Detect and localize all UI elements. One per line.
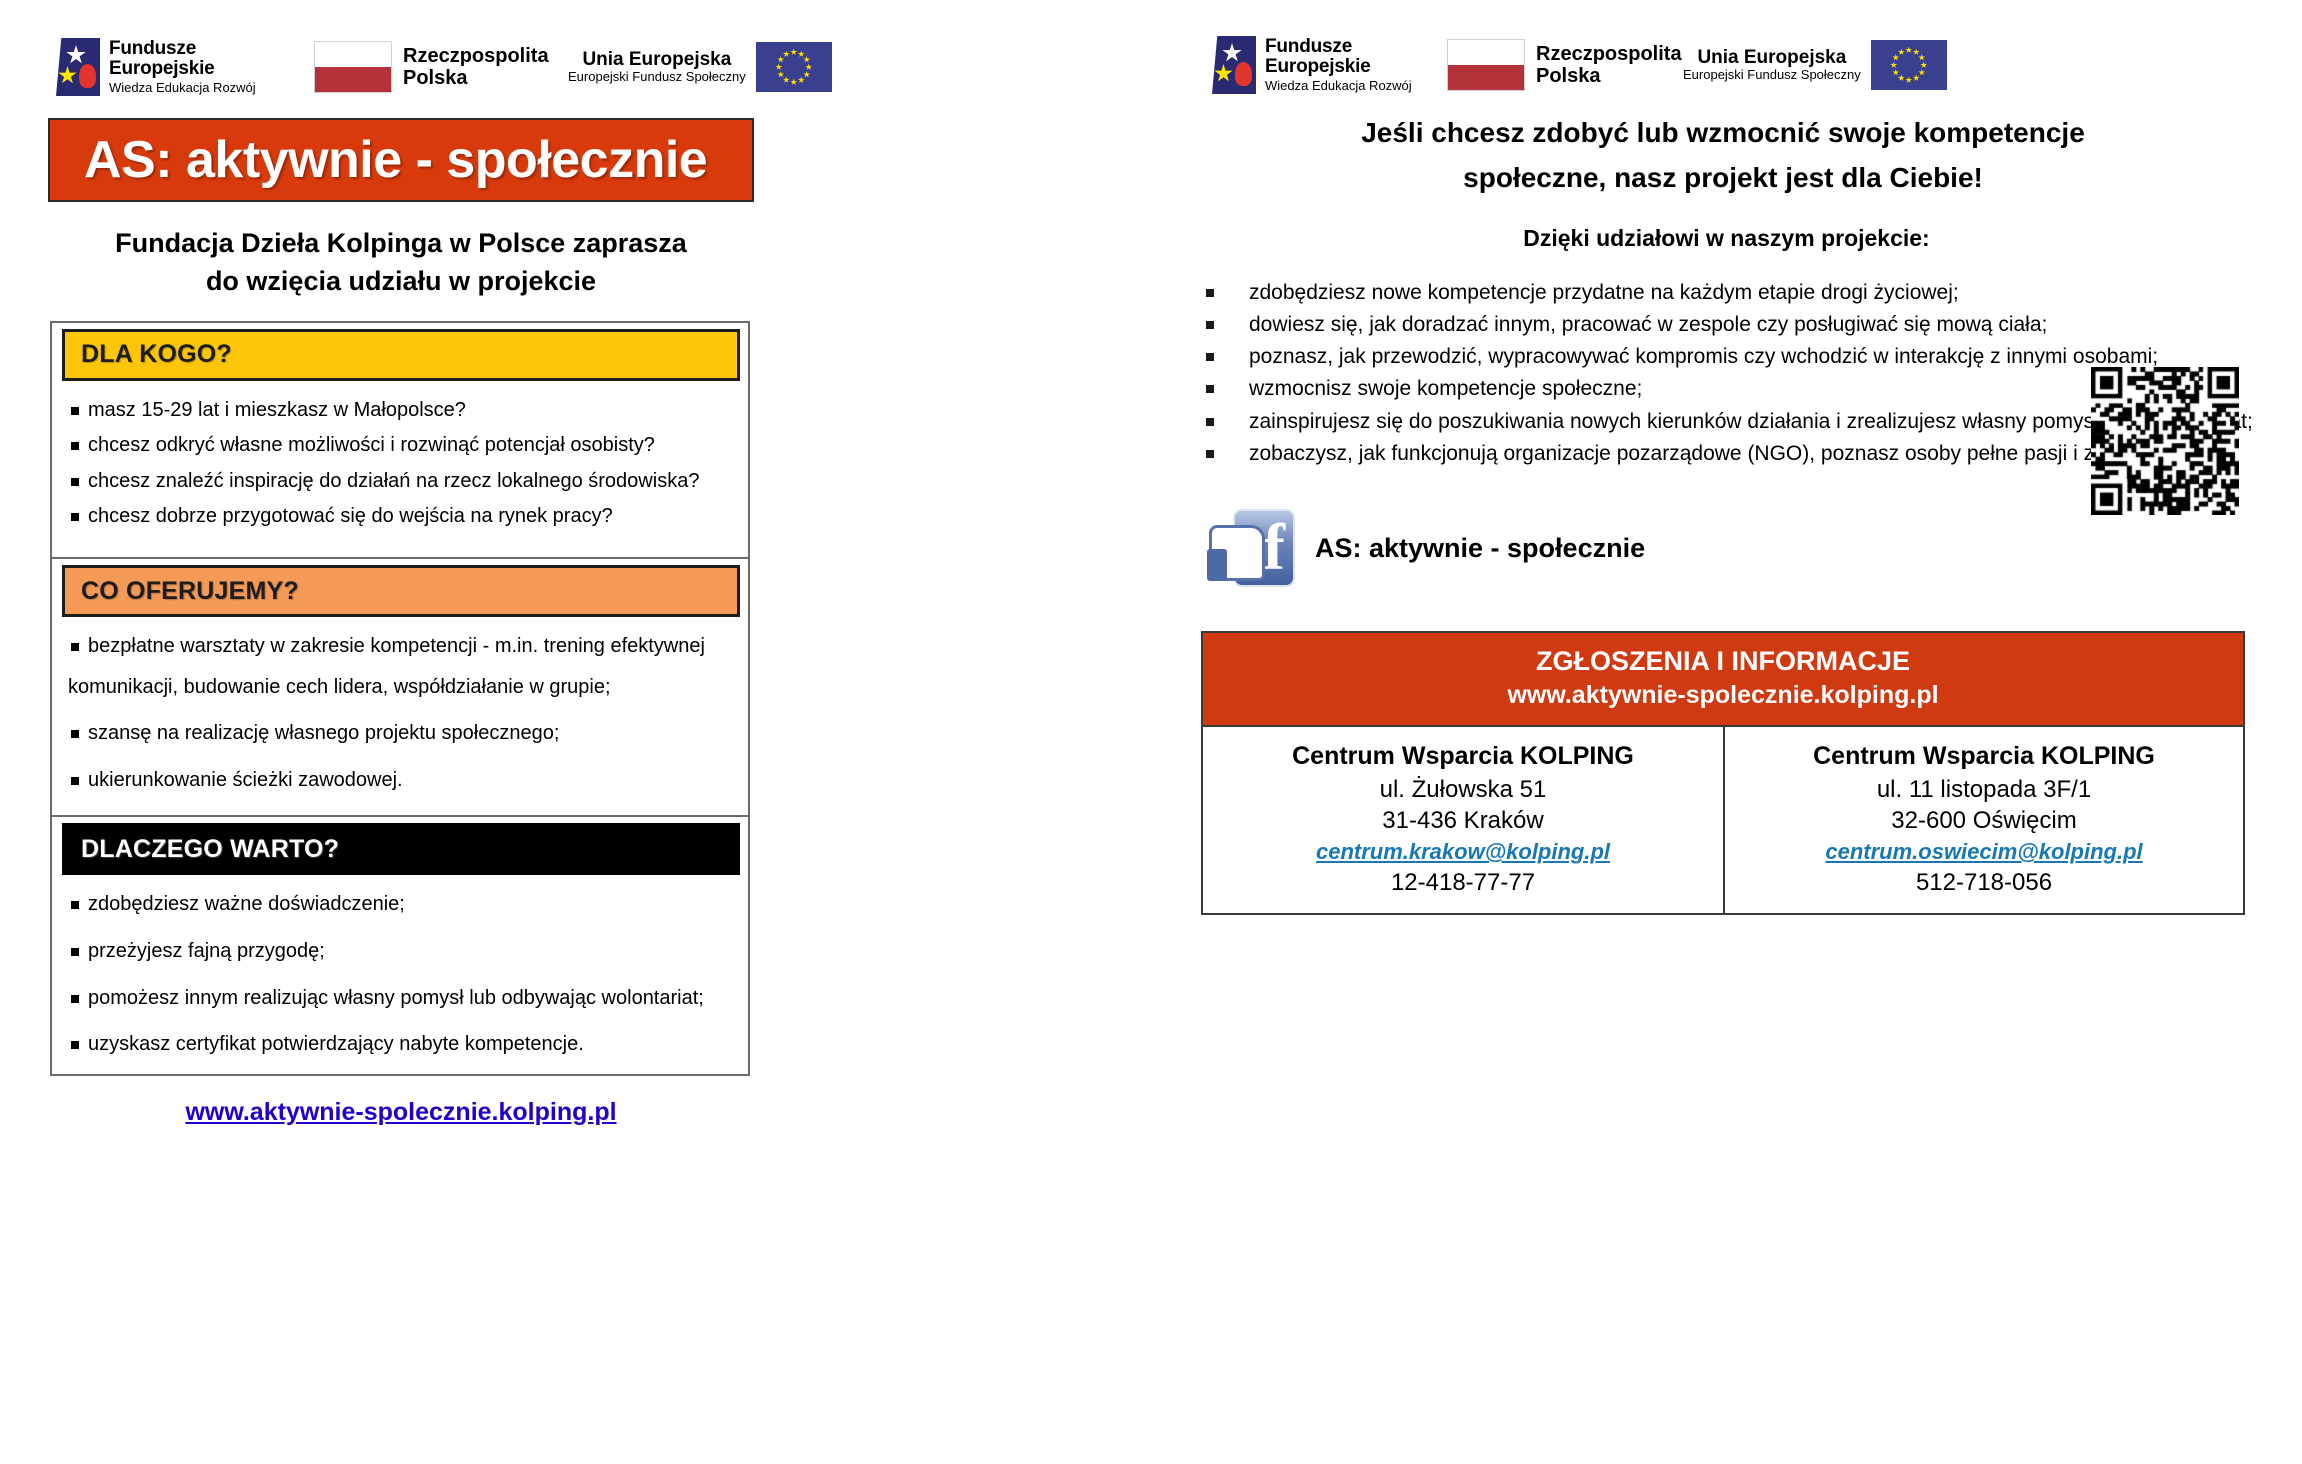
bullet-item: szansę na realizację własnego projektu s…	[68, 720, 736, 747]
square-bullet-icon	[71, 1041, 79, 1049]
contact-box: ZGŁOSZENIA I INFORMACJE www.aktywnie-spo…	[1201, 631, 2245, 915]
bullet-text: chcesz odkryć własne możliwości i rozwin…	[88, 434, 655, 456]
rp-line2: Polska	[403, 67, 549, 89]
unia-europejska-logo: Unia Europejska Europejski Fundusz Społe…	[1683, 40, 1947, 90]
fe-line3: Wiedza Edukacja Rozwój	[1265, 79, 1412, 93]
invitation-line-2: do wzięcia udziału w projekcie	[48, 262, 754, 300]
ue-line2: Europejski Fundusz Społeczny	[1683, 68, 1861, 83]
bullet-text: uzyskasz certyfikat potwierdzający nabyt…	[88, 1033, 584, 1055]
right-headline: Jeśli chcesz zdobyć lub wzmocnić swoje k…	[1199, 110, 2247, 201]
bullet-text: szansę na realizację własnego projektu s…	[88, 722, 559, 744]
bullet-item: chcesz odkryć własne możliwości i rozwin…	[68, 432, 736, 459]
fe-line2: Europejskie	[109, 59, 256, 79]
square-bullet-icon	[71, 513, 79, 521]
bullet-text: pomożesz innym realizując własny pomysł …	[88, 987, 704, 1009]
square-bullet-icon	[71, 777, 79, 785]
left-page: Fundusze Europejskie Wiedza Edukacja Roz…	[0, 0, 1151, 1464]
ue-line1: Unia Europejska	[1683, 47, 1861, 68]
square-bullet-icon	[71, 995, 79, 1003]
section-title-dla-kogo: DLA KOGO?	[65, 340, 232, 369]
contact-cell-oswiecim: Centrum Wsparcia KOLPING ul. 11 listopad…	[1723, 727, 2243, 913]
poland-flag-icon	[314, 41, 392, 93]
bullet-item: pomożesz innym realizując własny pomysł …	[68, 985, 736, 1012]
invitation-text: Fundacja Dzieła Kolpinga w Polsce zapras…	[48, 224, 754, 301]
right-page: Fundusze Europejskie Wiedza Edukacja Roz…	[1151, 0, 2302, 1464]
bullet-item: masz 15-29 lat i mieszkasz w Małopolsce?	[68, 397, 736, 424]
center-name: Centrum Wsparcia KOLPING	[1209, 740, 1717, 773]
square-bullet-icon	[71, 730, 79, 738]
project-title-banner: AS: aktywnie - społecznie	[48, 118, 754, 202]
fundusze-europejskie-icon	[50, 38, 100, 96]
section-title-dlaczego-warto: DLACZEGO WARTO?	[65, 835, 339, 864]
contact-cell-krakow: Centrum Wsparcia KOLPING ul. Żułowska 51…	[1203, 727, 1723, 913]
bullet-item: bezpłatne warsztaty w zakresie kompetenc…	[68, 633, 736, 660]
square-bullet-icon	[1206, 450, 1214, 458]
fundusze-europejskie-icon	[1206, 36, 1256, 94]
ue-line2: Europejski Fundusz Społeczny	[568, 70, 746, 85]
bullet-continuation: komunikacji, budowanie cech lidera, wspó…	[68, 674, 736, 701]
benefit-text: poznasz, jak przewodzić, wypracowywać ko…	[1249, 345, 2158, 368]
bullet-text: chcesz dobrze przygotować się do wejścia…	[88, 505, 613, 527]
facebook-page-label: AS: aktywnie - społecznie	[1315, 533, 1645, 564]
section-header-dla-kogo: DLA KOGO?	[62, 329, 740, 381]
eu-flag-icon	[1871, 40, 1947, 90]
center-street: ul. Żułowska 51	[1209, 774, 1717, 806]
bullet-item: zdobędziesz ważne doświadczenie;	[68, 891, 736, 918]
bullet-text: przeżyjesz fajną przygodę;	[88, 940, 325, 962]
facebook-thumbs-up-icon[interactable]: f	[1209, 509, 1295, 587]
section-header-dlaczego-warto: DLACZEGO WARTO?	[62, 823, 740, 875]
section-header-co-oferujemy: CO OFERUJEMY?	[62, 565, 740, 617]
contact-header-url[interactable]: www.aktywnie-spolecznie.kolping.pl	[1203, 679, 2243, 712]
benefits-subheading: Dzięki udziałowi w naszym projekcie:	[1151, 225, 2302, 252]
section-divider	[52, 815, 748, 817]
bullet-text: bezpłatne warsztaty w zakresie kompetenc…	[88, 635, 705, 657]
center-street: ul. 11 listopada 3F/1	[1731, 774, 2237, 806]
center-city: 32-600 Oświęcim	[1731, 805, 2237, 837]
center-name: Centrum Wsparcia KOLPING	[1731, 740, 2237, 773]
contact-cells: Centrum Wsparcia KOLPING ul. Żułowska 51…	[1203, 727, 2243, 913]
qr-code-icon[interactable]	[2091, 367, 2239, 515]
unia-europejska-logo: Unia Europejska Europejski Fundusz Społe…	[568, 42, 832, 92]
center-phone: 12-418-77-77	[1209, 867, 1717, 899]
contact-header-title: ZGŁOSZENIA I INFORMACJE	[1203, 645, 2243, 679]
square-bullet-icon	[71, 901, 79, 909]
bullet-item: ukierunkowanie ścieżki zawodowej.	[68, 767, 736, 794]
section-body-dlaczego-warto: zdobędziesz ważne doświadczenie; przeżyj…	[52, 875, 748, 1073]
benefit-text: zdobędziesz nowe kompetencje przydatne n…	[1249, 281, 1959, 304]
section-title-co-oferujemy: CO OFERUJEMY?	[65, 577, 299, 606]
center-email-link[interactable]: centrum.krakow@kolping.pl	[1209, 837, 1717, 867]
footer-url-container: www.aktywnie-spolecznie.kolping.pl	[48, 1098, 754, 1127]
section-divider	[52, 557, 748, 559]
rzeczpospolita-polska-logo: Rzeczpospolita Polska	[314, 41, 546, 93]
center-city: 31-436 Kraków	[1209, 805, 1717, 837]
facebook-row: f AS: aktywnie - społecznie	[1209, 507, 2302, 589]
benefit-text: dowiesz się, jak doradzać innym, pracowa…	[1249, 313, 2047, 336]
funding-logo-strip-right: Fundusze Europejskie Wiedza Edukacja Roz…	[1151, 0, 2302, 94]
rp-line1: Rzeczpospolita	[403, 45, 549, 67]
eu-flag-icon	[756, 42, 832, 92]
fundusze-europejskie-logo: Fundusze Europejskie Wiedza Edukacja Roz…	[50, 38, 288, 96]
list-item: zdobędziesz nowe kompetencje przydatne n…	[1201, 278, 2262, 308]
bullet-text: masz 15-29 lat i mieszkasz w Małopolsce?	[88, 399, 466, 421]
fe-line1: Fundusze	[109, 39, 256, 59]
funding-logo-strip-left: Fundusze Europejskie Wiedza Edukacja Roz…	[0, 0, 1151, 96]
rzeczpospolita-polska-logo: Rzeczpospolita Polska	[1447, 39, 1669, 91]
info-sections: DLA KOGO? masz 15-29 lat i mieszkasz w M…	[50, 321, 750, 1076]
contact-box-header: ZGŁOSZENIA I INFORMACJE www.aktywnie-spo…	[1203, 633, 2243, 727]
square-bullet-icon	[71, 478, 79, 486]
benefit-text: zobaczysz, jak funkcjonują organizacje p…	[1249, 442, 2235, 465]
list-item: dowiesz się, jak doradzać innym, pracowa…	[1201, 310, 2262, 340]
poland-flag-icon	[1447, 39, 1525, 91]
section-body-co-oferujemy: bezpłatne warsztaty w zakresie kompetenc…	[52, 617, 748, 811]
section-body-dla-kogo: masz 15-29 lat i mieszkasz w Małopolsce?…	[52, 381, 748, 553]
rp-line1: Rzeczpospolita	[1536, 43, 1682, 65]
benefit-text: wzmocnisz swoje kompetencje społeczne;	[1249, 377, 1642, 400]
rp-line2: Polska	[1536, 65, 1682, 87]
bullet-item: uzyskasz certyfikat potwierdzający nabyt…	[68, 1031, 736, 1058]
headline-line-1: Jeśli chcesz zdobyć lub wzmocnić swoje k…	[1199, 110, 2247, 155]
square-bullet-icon	[1206, 353, 1214, 361]
square-bullet-icon	[1206, 289, 1214, 297]
square-bullet-icon	[71, 407, 79, 415]
bullet-text: chcesz znaleźć inspirację do działań na …	[88, 470, 699, 492]
fe-line1: Fundusze	[1265, 37, 1412, 57]
bullet-text: ukierunkowanie ścieżki zawodowej.	[88, 769, 403, 791]
center-phone: 512-718-056	[1731, 867, 2237, 899]
square-bullet-icon	[1206, 385, 1214, 393]
fe-line2: Europejskie	[1265, 57, 1412, 77]
invitation-line-1: Fundacja Dzieła Kolpinga w Polsce zapras…	[48, 224, 754, 262]
square-bullet-icon	[71, 442, 79, 450]
project-title: AS: aktywnie - społecznie	[50, 130, 707, 190]
fundusze-europejskie-logo: Fundusze Europejskie Wiedza Edukacja Roz…	[1206, 36, 1431, 94]
center-email-link[interactable]: centrum.oswiecim@kolping.pl	[1731, 837, 2237, 867]
square-bullet-icon	[71, 948, 79, 956]
bullet-text: komunikacji, budowanie cech lidera, wspó…	[68, 676, 611, 698]
bullet-item: chcesz dobrze przygotować się do wejścia…	[68, 503, 736, 530]
square-bullet-icon	[1206, 321, 1214, 329]
bullet-item: chcesz znaleźć inspirację do działań na …	[68, 468, 736, 495]
ue-line1: Unia Europejska	[568, 49, 746, 70]
project-website-link[interactable]: www.aktywnie-spolecznie.kolping.pl	[185, 1098, 616, 1126]
square-bullet-icon	[71, 643, 79, 651]
fe-line3: Wiedza Edukacja Rozwój	[109, 81, 256, 95]
bullet-item: przeżyjesz fajną przygodę;	[68, 938, 736, 965]
headline-line-2: społeczne, nasz projekt jest dla Ciebie!	[1199, 155, 2247, 200]
square-bullet-icon	[1206, 418, 1214, 426]
bullet-text: zdobędziesz ważne doświadczenie;	[88, 893, 405, 915]
